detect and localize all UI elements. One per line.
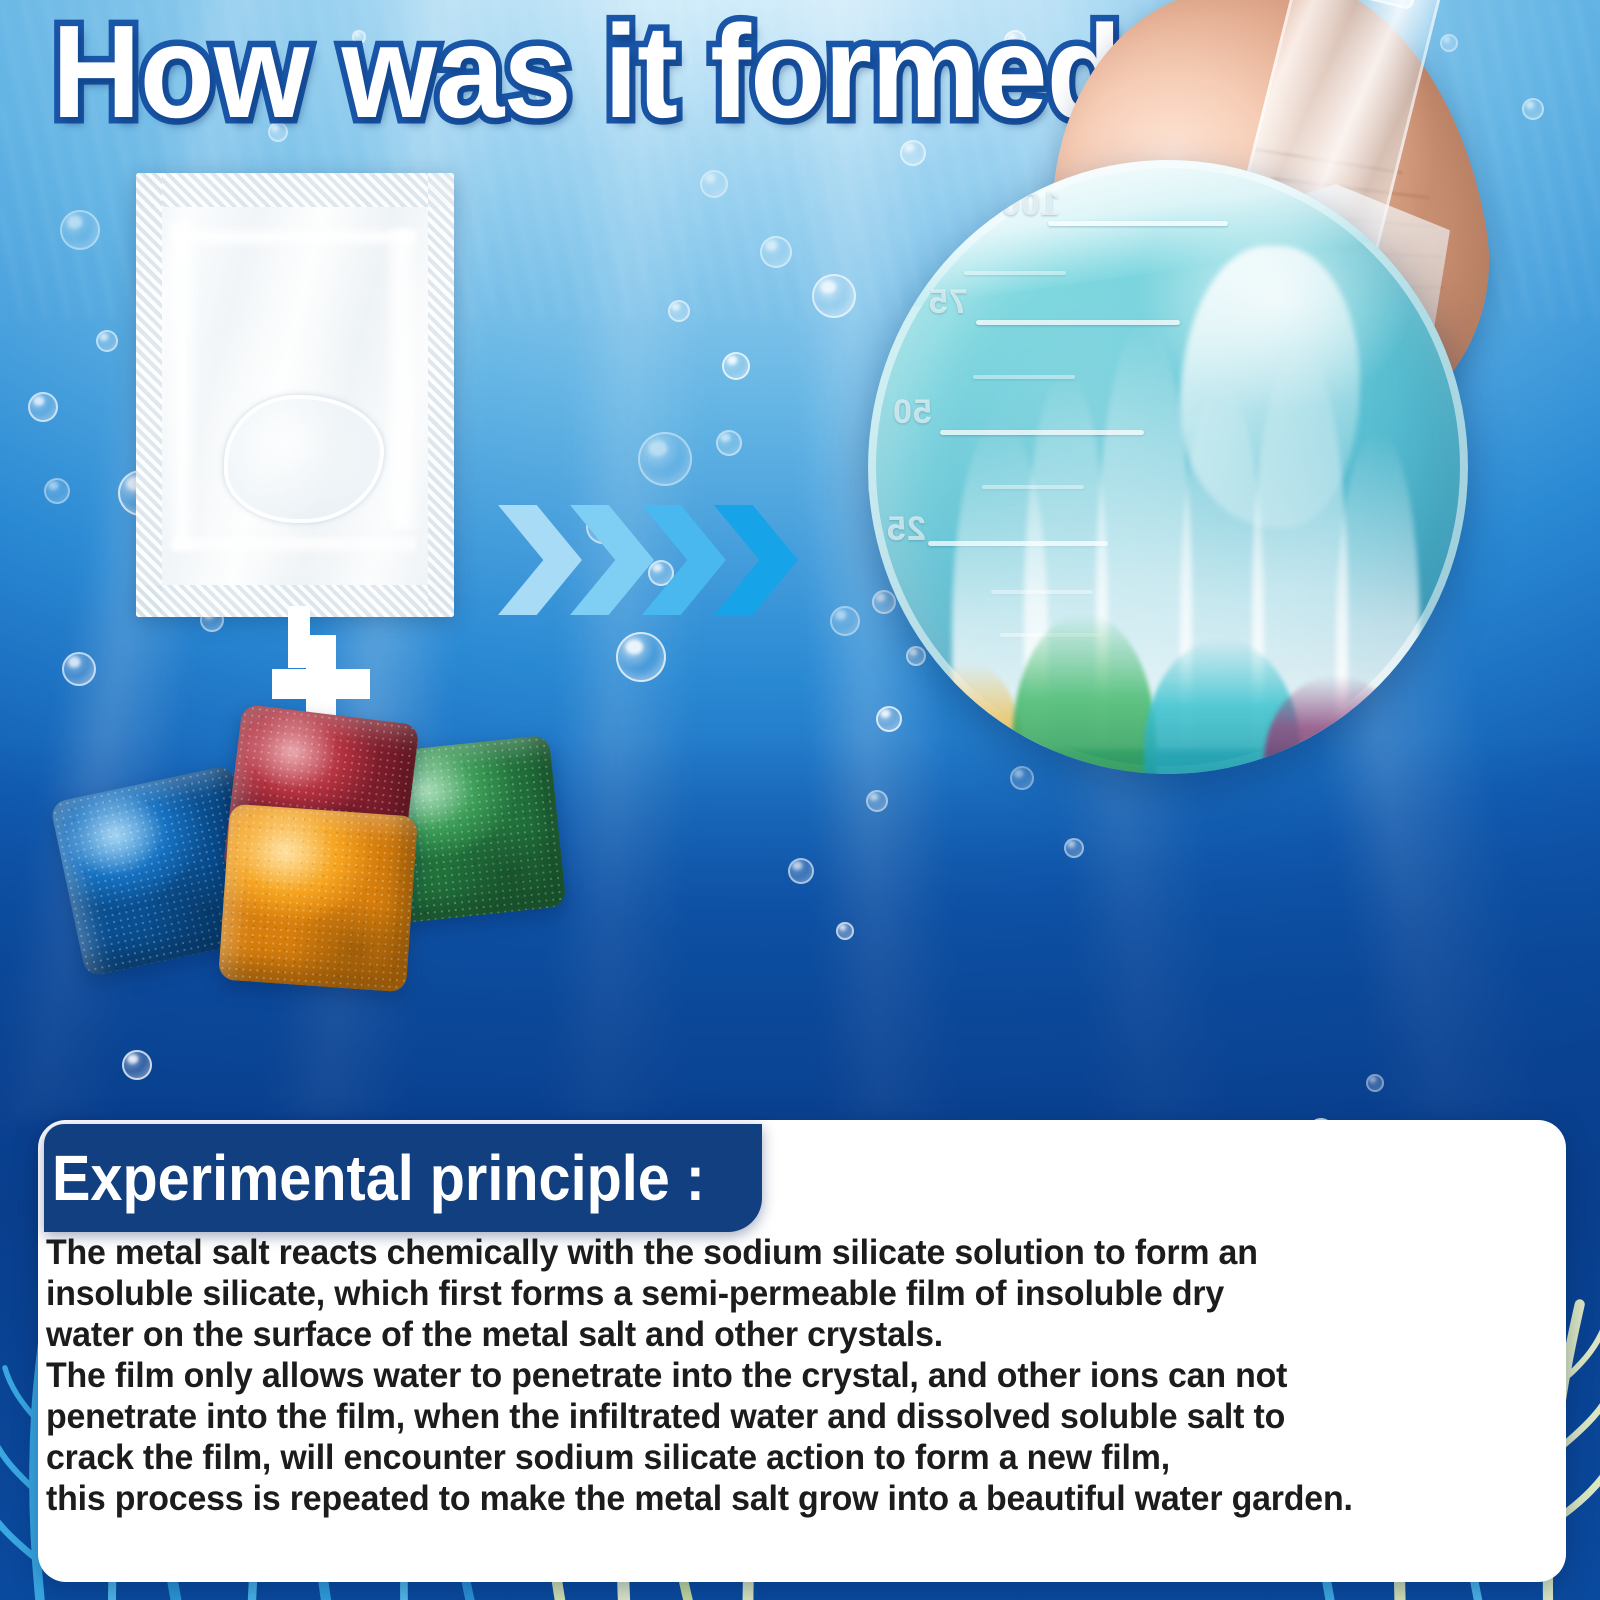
bubble [62, 652, 96, 686]
principle-line: insoluble silicate, which first forms a … [46, 1273, 1494, 1314]
process-arrow [498, 505, 798, 615]
bubble [28, 392, 58, 422]
bubble [44, 478, 70, 504]
bubble [760, 236, 792, 268]
graduation-label: 75 [928, 283, 968, 322]
principle-line: crack the film, will encounter sodium si… [46, 1437, 1494, 1478]
bubble [668, 300, 690, 322]
graduation-label: 100 [1000, 185, 1060, 224]
flask-highlight [1180, 246, 1360, 528]
graduation-mark [1048, 221, 1228, 226]
bubble [122, 1050, 152, 1080]
graduation-label: 50 [892, 393, 932, 432]
orange-crystal-cube [218, 804, 418, 993]
chevron-icon [498, 505, 582, 615]
infographic-canvas: How was it formed? [0, 0, 1600, 1600]
packet-contents-blob [224, 395, 384, 523]
chevron-icon [642, 505, 726, 615]
chevron-icon [570, 505, 654, 615]
chevron-icon [714, 505, 798, 615]
bubble [722, 352, 750, 380]
flask-and-hand: 100755025 [812, 0, 1600, 1104]
graduation-label: 25 [886, 510, 926, 549]
bubble [60, 210, 100, 250]
bubble [716, 430, 742, 456]
principle-body-text: The metal salt reacts chemically with th… [46, 1232, 1494, 1562]
principle-heading: Experimental principle : [52, 1128, 700, 1228]
principle-line: penetrate into the film, when the infilt… [46, 1396, 1494, 1437]
bubble [616, 632, 666, 682]
ingredient-packet [136, 173, 454, 617]
graduation-mark-minor [964, 271, 1066, 275]
principle-line: water on the surface of the metal salt a… [46, 1314, 1494, 1355]
bubble [638, 432, 692, 486]
bubble [700, 170, 728, 198]
principle-line: The film only allows water to penetrate … [46, 1355, 1494, 1396]
flask-bulb: 100755025 [868, 160, 1468, 774]
bubble [96, 330, 118, 352]
principle-line: The metal salt reacts chemically with th… [46, 1232, 1494, 1273]
bubble [788, 858, 814, 884]
principle-line: this process is repeated to make the met… [46, 1478, 1494, 1519]
